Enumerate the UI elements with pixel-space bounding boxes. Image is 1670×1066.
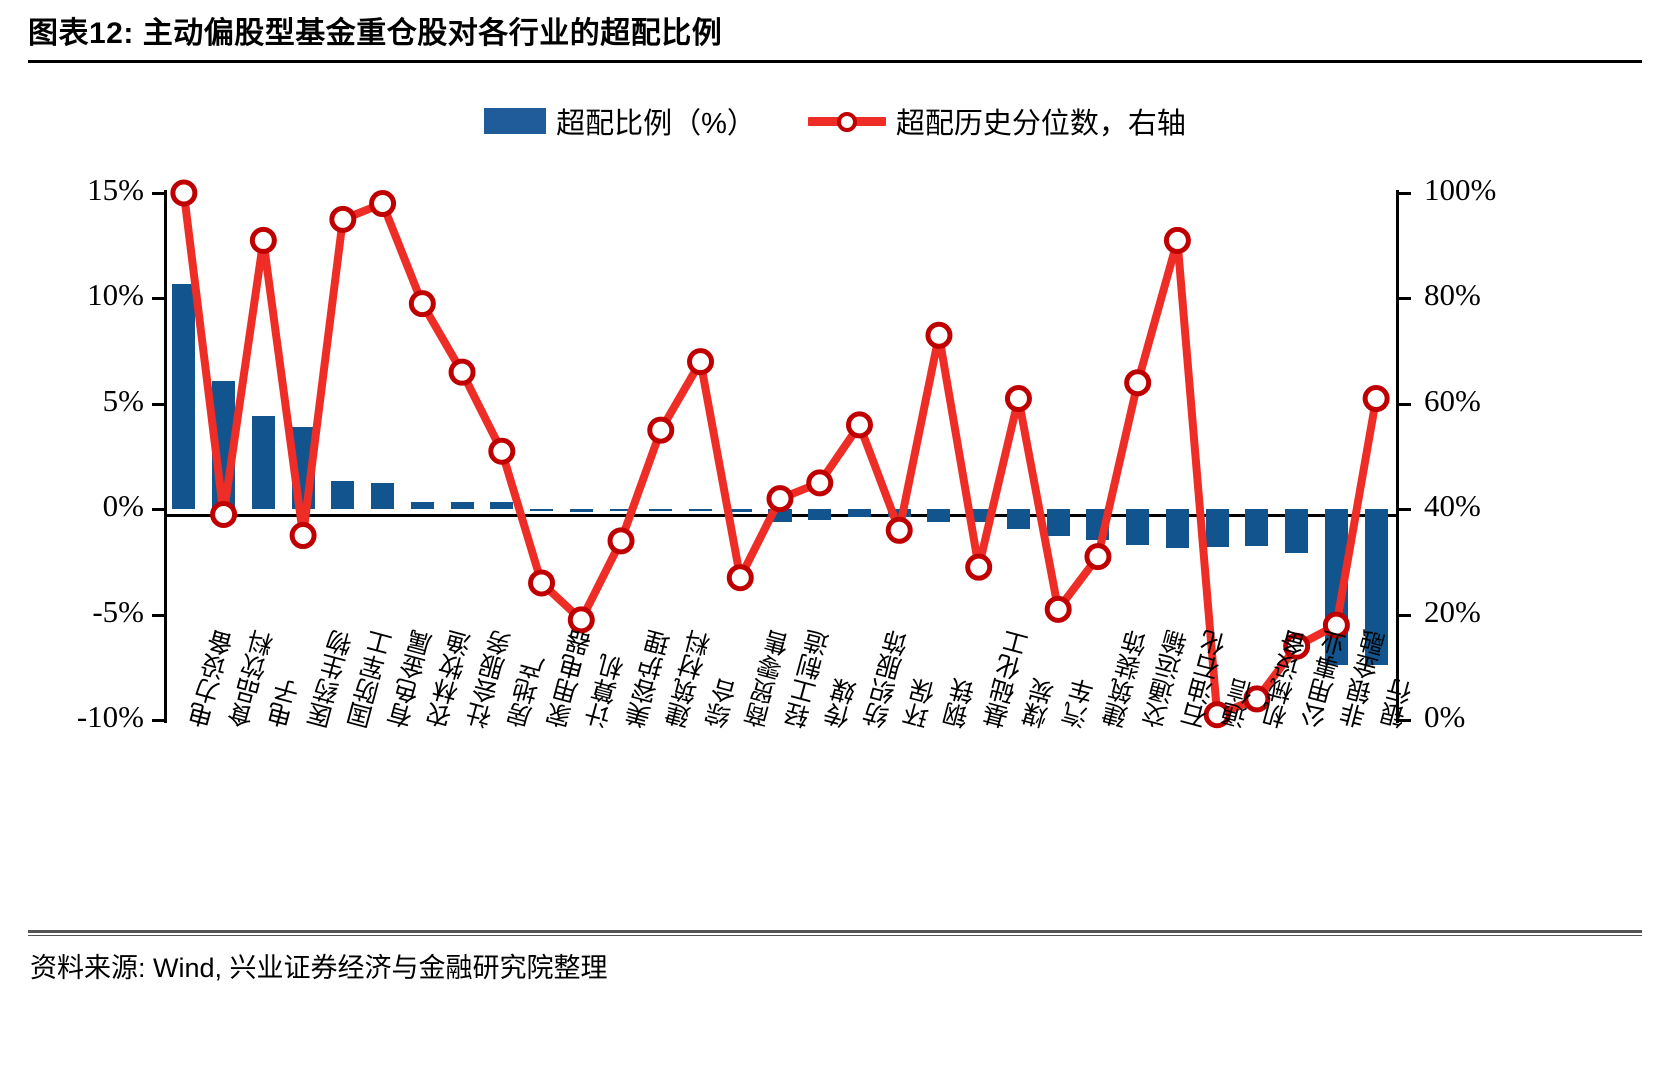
line-marker: 有色金属: 98% — [372, 193, 394, 215]
line-marker: 美容护理: 34% — [610, 530, 632, 552]
line-marker: 食品饮料: 39% — [213, 503, 235, 525]
y-axis-right-tick-label: 20% — [1424, 594, 1481, 630]
chart-legend: 超配比例（%） 超配历史分位数，右轴 — [0, 100, 1670, 142]
x-axis-labels: 电力设备食品饮料电子医药生物国防军工有色金属农林牧渔社会服务房地产家用电器计算机… — [164, 728, 1396, 918]
footer-divider-thin — [28, 935, 1642, 936]
line-marker: 医药生物: 35% — [292, 525, 314, 547]
line-marker: 商贸零售: 27% — [729, 567, 751, 589]
y-axis-left-tick-label: 5% — [103, 383, 144, 419]
y-tick-right — [1398, 192, 1411, 195]
title-divider — [28, 60, 1642, 63]
page-title: 图表12: 主动偏股型基金重仓股对各行业的超配比例 — [28, 8, 1642, 58]
legend-item-line: 超配历史分位数，右轴 — [808, 100, 1186, 142]
legend-label-line: 超配历史分位数，右轴 — [896, 100, 1186, 142]
y-axis-right — [1396, 190, 1399, 723]
y-axis-right-tick-label: 80% — [1424, 277, 1481, 313]
y-axis-left-tick-label: 10% — [87, 277, 144, 313]
y-axis-left-tick-label: -5% — [92, 594, 144, 630]
legend-label-bar: 超配比例（%） — [556, 100, 756, 142]
line-marker: 计算机: 19% — [570, 609, 592, 631]
line-marker: 综合: 68% — [690, 351, 712, 373]
line-marker: 银行: 61% — [1365, 388, 1387, 410]
y-axis-left-tick-label: -10% — [77, 699, 144, 735]
title-block: 图表12: 主动偏股型基金重仓股对各行业的超配比例 — [28, 8, 1642, 63]
bar-swatch-icon — [484, 108, 546, 134]
line-marker: 电力设备: 100% — [173, 182, 195, 204]
source-note: 资料来源: Wind, 兴业证券经济与金融研究院整理 — [30, 946, 608, 985]
y-axis-left-tick-label: 0% — [103, 488, 144, 524]
y-axis-right-tick-label: 0% — [1424, 699, 1465, 735]
line-marker: 基础化工: 29% — [968, 556, 990, 578]
chart-page: 图表12: 主动偏股型基金重仓股对各行业的超配比例 超配比例（%） 超配历史分位… — [0, 0, 1670, 1066]
footer-divider — [28, 930, 1642, 933]
line-marker: 交通运输: 64% — [1127, 372, 1149, 394]
y-tick-right — [1398, 297, 1411, 300]
line-marker: 轻工制造: 42% — [769, 488, 791, 510]
line-marker: 石油石化: 91% — [1166, 229, 1188, 251]
legend-item-bar: 超配比例（%） — [484, 100, 756, 142]
line-marker: 农林牧渔: 79% — [411, 293, 433, 315]
line-marker-icon — [808, 108, 886, 134]
line-marker: 家用电器: 26% — [531, 572, 553, 594]
y-axis-left-tick-label: 15% — [87, 172, 144, 208]
line-marker: 社会服务: 66% — [451, 361, 473, 383]
y-axis-right-tick-label: 100% — [1424, 172, 1496, 208]
y-tick-right — [1398, 403, 1411, 406]
y-axis-right-tick-label: 40% — [1424, 488, 1481, 524]
y-tick-right — [1398, 614, 1411, 617]
line-marker: 汽车: 21% — [1047, 598, 1069, 620]
line-marker: 环保: 36% — [888, 519, 910, 541]
line-marker: 电子: 91% — [252, 229, 274, 251]
line-marker: 房地产: 51% — [491, 440, 513, 462]
line-marker: 国防军工: 95% — [332, 208, 354, 230]
line-marker: 建筑材料: 55% — [650, 419, 672, 441]
line-marker: 建筑装饰: 31% — [1087, 546, 1109, 568]
line-marker: 纺织服饰: 56% — [848, 414, 870, 436]
y-axis-right-tick-label: 60% — [1424, 383, 1481, 419]
line-marker: 钢铁: 73% — [928, 324, 950, 346]
line-marker: 煤炭: 61% — [1007, 388, 1029, 410]
y-tick-right — [1398, 508, 1411, 511]
line-marker: 传媒: 45% — [809, 472, 831, 494]
